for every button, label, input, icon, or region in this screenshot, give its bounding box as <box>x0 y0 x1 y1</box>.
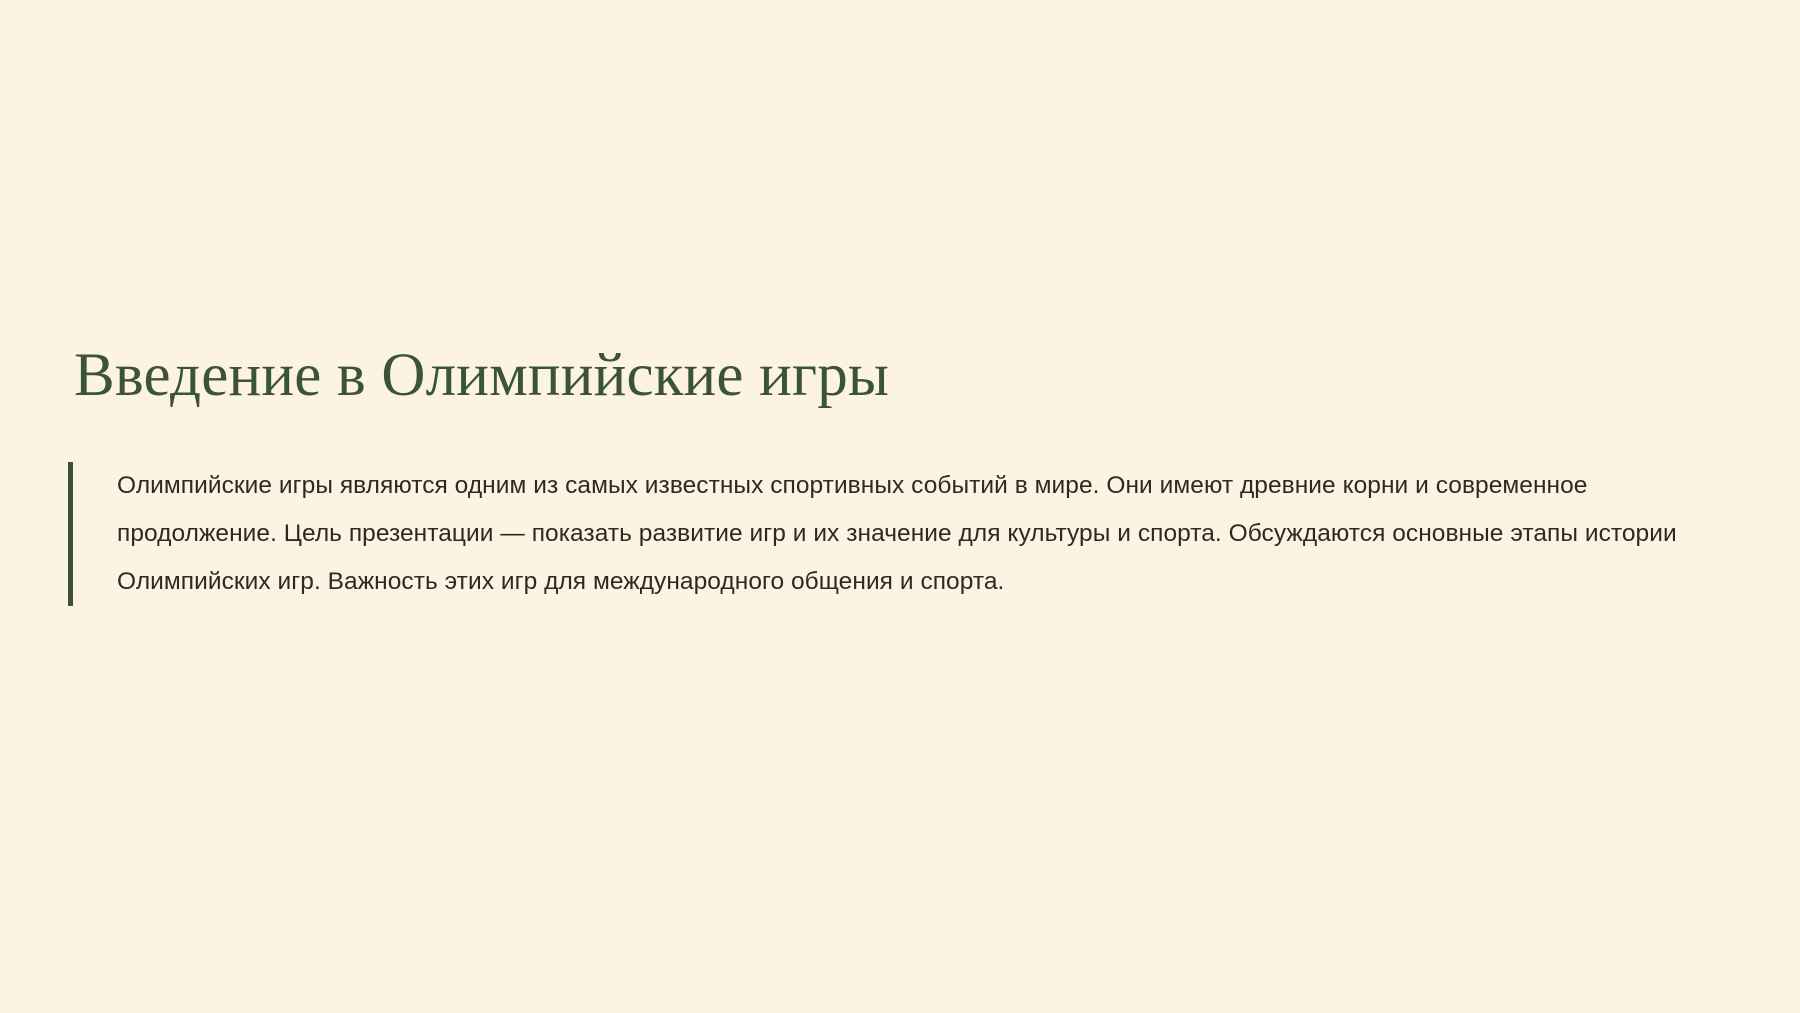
body-paragraph: Олимпийские игры являются одним из самых… <box>73 462 1744 606</box>
presentation-slide: Введение в Олимпийские игры Олимпийские … <box>0 0 1800 1013</box>
page-title: Введение в Олимпийские игры <box>74 343 1724 409</box>
body-quote-block: Олимпийские игры являются одним из самых… <box>68 462 1744 606</box>
